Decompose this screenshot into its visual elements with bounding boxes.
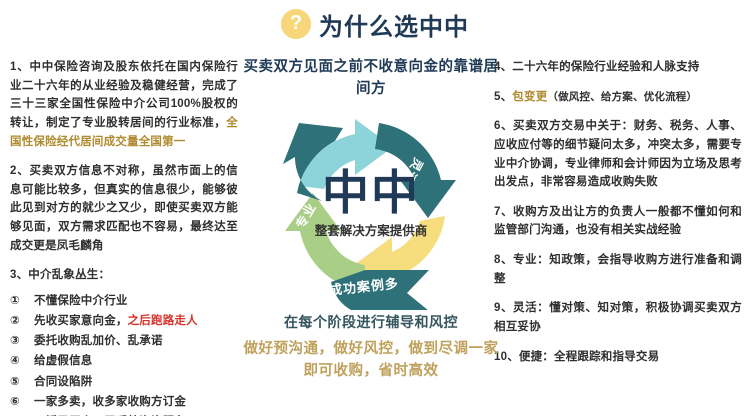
list-item: ⑤ 合同设陷阱 xyxy=(10,374,238,391)
list-item: ⑥ 一家多卖，收多家收购方订金 xyxy=(10,394,238,411)
center-headline: 买卖双方见面之前不收意向金的靠谱居间方 xyxy=(242,56,500,100)
question-mark-glyph: ? xyxy=(290,13,302,33)
list-item-marker: ⑥ xyxy=(10,394,24,411)
right-paragraph-7: 7、收购方及出让方的负责人一般都不懂如何和监管部门沟通，也没有相关实战经验 xyxy=(494,203,742,240)
center-diagram: 买卖双方见面之前不收意向金的靠谱居间方 xyxy=(242,52,500,416)
list-item-marker: ② xyxy=(10,313,24,330)
right-paragraph-6: 6、买卖双方交易中关于：财务、税务、人事、应收应付等的细节疑问太多，冲突太多，需… xyxy=(494,117,742,192)
right-paragraph-8-text: 8、专业：知政策，会指导收购方进行准备和调整 xyxy=(494,254,742,285)
list-item-text: 先收买家意向金，之后跑路走人 xyxy=(34,313,238,330)
right-paragraph-5-highlight: 包变更 xyxy=(512,91,547,103)
right-paragraph-4: 4、二十六年的保险行业经验和人脉支持 xyxy=(494,58,742,77)
left-list-title: 3、中介乱象丛生： xyxy=(10,266,238,285)
right-paragraph-4-text: 4、二十六年的保险行业经验和人脉支持 xyxy=(494,61,700,73)
list-item-marker: ④ xyxy=(10,353,24,370)
page-header: ? 为什么选中中 xyxy=(0,4,750,44)
list-item-label: 给虚假信息 xyxy=(34,355,93,367)
list-item-label: 不懂保险中介行业 xyxy=(34,295,128,307)
list-item: ① 不懂保险中介行业 xyxy=(10,293,238,310)
slide-root: ? 为什么选中中 1、中中保险咨询及股东依托在国内保险行业二十六年的从业经验及稳… xyxy=(0,0,750,416)
right-paragraph-9: 9、灵活：懂对策、知对策，积极协调买卖双方相互妥协 xyxy=(494,299,742,336)
left-paragraph-1-text: 1、中中保险咨询及股东依托在国内保险行业二十六年的从业经验及稳健经营，完成了三十… xyxy=(10,61,238,129)
right-paragraph-7-text: 7、收购方及出让方的负责人一般都不懂如何和监管部门沟通，也没有相关实战经验 xyxy=(494,206,742,237)
list-item-label: 委托收购乱加价、乱承诺 xyxy=(34,335,163,347)
right-paragraph-8: 8、专业：知政策，会指导收购方进行准备和调整 xyxy=(494,251,742,288)
center-footer-line-1: 在每个阶段进行辅导和风控 xyxy=(242,312,500,332)
right-paragraph-5-note: （做风控、给方案、优化流程） xyxy=(547,91,697,103)
list-item: ② 先收买家意向金，之后跑路走人 xyxy=(10,313,238,330)
list-item-marker: ⑤ xyxy=(10,374,24,391)
list-item-label: 一家多卖，收多家收购方订金 xyxy=(34,396,186,408)
right-paragraph-10: 10、便捷：全程跟踪和指导交易 xyxy=(494,348,742,367)
list-item-marker: ③ xyxy=(10,333,24,350)
list-item-label: 先收买家意向金， xyxy=(34,315,128,327)
list-item-text: 合同设陷阱 xyxy=(34,374,238,391)
list-item: ③ 委托收购乱加价、乱承诺 xyxy=(10,333,238,350)
right-paragraph-10-text: 10、便捷：全程跟踪和指导交易 xyxy=(494,351,659,363)
left-paragraph-2-text: 2、买卖双方信息不对称，虽然市面上的信息可能比较多，但真实的信息很少，能够彼此见… xyxy=(10,165,238,252)
center-footer-line-2: 做好预沟通，做好风控，做到尽调一家即可收购，省时高效 xyxy=(242,339,500,383)
list-item-label: 合同设陷阱 xyxy=(34,376,93,388)
list-item-warning: 之后跑路走人 xyxy=(128,315,198,327)
right-paragraph-5: 5、包变更（做风控、给方案、优化流程） xyxy=(494,88,742,107)
left-text-column: 1、中中保险咨询及股东依托在国内保险行业二十六年的从业经验及稳健经营，完成了三十… xyxy=(10,58,238,416)
left-paragraph-1: 1、中中保险咨询及股东依托在国内保险行业二十六年的从业经验及稳健经营，完成了三十… xyxy=(10,58,238,151)
question-mark-icon: ? xyxy=(281,9,311,39)
right-text-column: 4、二十六年的保险行业经验和人脉支持 5、包变更（做风控、给方案、优化流程） 6… xyxy=(494,58,742,377)
page-title: 为什么选中中 xyxy=(319,7,469,42)
right-paragraph-6-text: 6、买卖双方交易中关于：财务、税务、人事、应收应付等的细节疑问太多，冲突太多，需… xyxy=(494,120,742,188)
cycle-wheel: 灵活 专业 成功案例多 中中 整套解决方案提供商 xyxy=(242,104,500,310)
list-item-text: 一家多卖，收多家收购方订金 xyxy=(34,394,238,411)
left-numbered-list: ① 不懂保险中介行业 ② 先收买家意向金，之后跑路走人 ③ 委托收购乱加价、乱承… xyxy=(10,293,238,416)
list-item-text: 委托收购乱加价、乱承诺 xyxy=(34,333,238,350)
list-item-text: 给虚假信息 xyxy=(34,353,238,370)
right-paragraph-9-text: 9、灵活：懂对策、知对策，积极协调买卖双方相互妥协 xyxy=(494,302,742,333)
list-item-text: 不懂保险中介行业 xyxy=(34,293,238,310)
left-paragraph-2: 2、买卖双方信息不对称，虽然市面上的信息可能比较多，但真实的信息很少，能够彼此见… xyxy=(10,162,238,255)
list-item: ④ 给虚假信息 xyxy=(10,353,238,370)
list-item-marker: ① xyxy=(10,293,24,310)
